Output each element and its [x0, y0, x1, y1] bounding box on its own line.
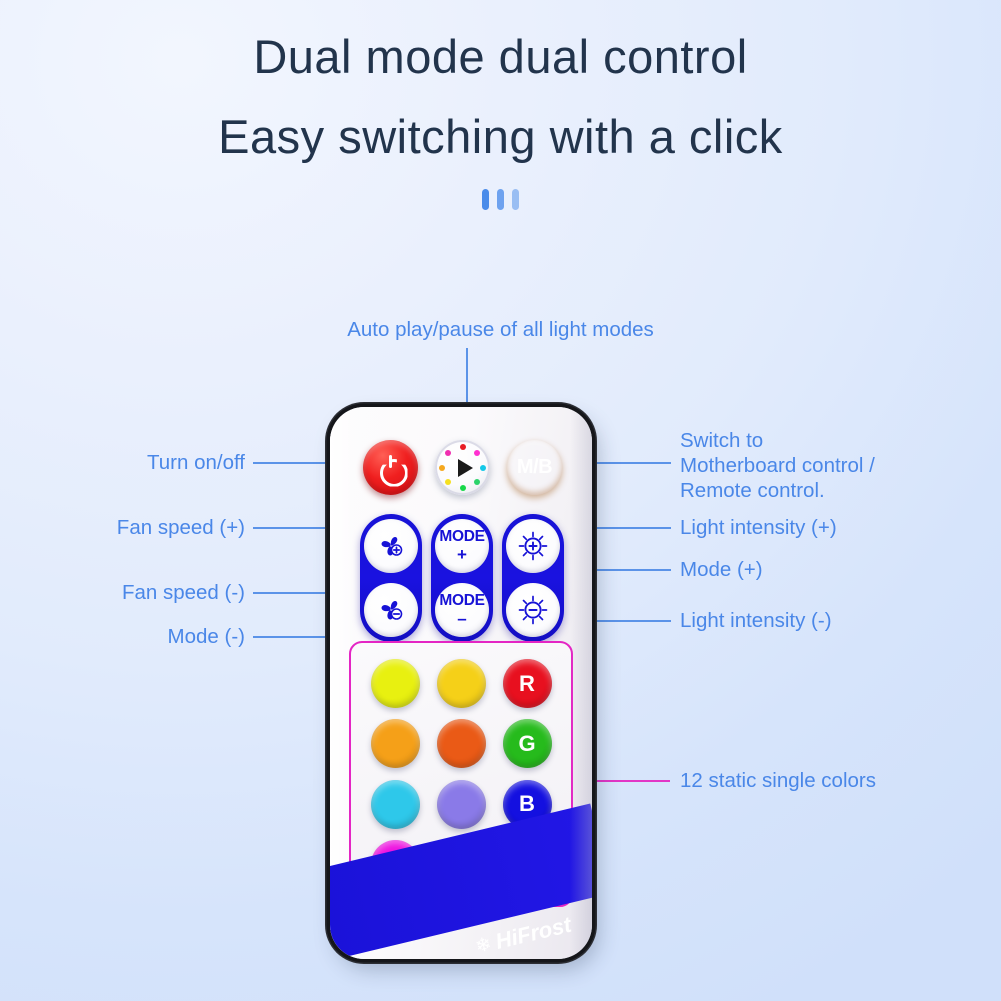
motherboard-remote-button[interactable]: M/B [507, 440, 562, 495]
light-intensity-down-button[interactable] [506, 583, 560, 637]
play-ring-dot [474, 450, 480, 456]
callout-light-down: Light intensity (-) [680, 608, 980, 633]
play-ring-dot [474, 479, 480, 485]
dot-1 [482, 189, 489, 210]
play-ring-dot [439, 465, 445, 471]
color-dark-orange[interactable] [437, 719, 486, 768]
fan-speed-down-button[interactable] [364, 583, 418, 637]
snowflake-icon: ❄ [473, 932, 494, 958]
sun-plus-icon [516, 529, 550, 563]
color-yellow-green[interactable] [371, 659, 420, 708]
callout-motherboard: Switch to Motherboard control / Remote c… [680, 428, 980, 503]
color-red-label: R [519, 671, 535, 697]
callout-static-colors: 12 static single colors [680, 768, 990, 793]
callout-auto-play: Auto play/pause of all light modes [0, 317, 1001, 342]
callout-power: Turn on/off [40, 450, 245, 475]
mode-up-sign: + [457, 546, 467, 563]
light-intensity-up-button[interactable] [506, 519, 560, 573]
mode-capsule: MODE + MODE – [431, 514, 493, 642]
top-button-row: M/B [330, 440, 592, 502]
dot-2 [497, 189, 504, 210]
callout-fan-up: Fan speed (+) [20, 515, 245, 540]
headline-line-2: Easy switching with a click [0, 113, 1001, 160]
power-icon [378, 455, 404, 481]
fan-plus-icon [375, 530, 407, 562]
play-pause-button[interactable] [435, 440, 490, 495]
fan-minus-icon [375, 594, 407, 626]
callout-mode-down: Mode (-) [45, 624, 245, 649]
dot-3 [512, 189, 519, 210]
color-cyan[interactable] [371, 780, 420, 829]
callout-mode-up: Mode (+) [680, 557, 980, 582]
fan-speed-up-button[interactable] [364, 519, 418, 573]
play-ring-dot [445, 479, 451, 485]
play-ring-dot [480, 465, 486, 471]
play-ring-dot [445, 450, 451, 456]
play-ring-dot [460, 444, 466, 450]
callout-light-up: Light intensity (+) [680, 515, 980, 540]
color-green[interactable]: G [503, 719, 552, 768]
mode-up-button[interactable]: MODE + [435, 519, 489, 573]
mode-down-label: MODE [439, 593, 484, 609]
infographic-canvas: Dual mode dual control Easy switching wi… [0, 0, 1001, 1001]
mode-up-label: MODE [439, 529, 484, 545]
mb-label: M/B [517, 456, 552, 479]
power-button[interactable] [363, 440, 418, 495]
fan-capsule [360, 514, 422, 642]
color-green-label: G [518, 731, 535, 757]
headline-line-1: Dual mode dual control [0, 33, 1001, 80]
connector-static-colors [592, 780, 670, 782]
color-orange[interactable] [371, 719, 420, 768]
color-blue-label: B [519, 791, 535, 817]
brightness-capsule [502, 514, 564, 642]
play-icon [458, 459, 473, 477]
control-capsules: MODE + MODE – [330, 514, 592, 642]
color-yellow[interactable] [437, 659, 486, 708]
remote-control-device: M/B [330, 407, 592, 959]
decorative-dots [0, 189, 1001, 210]
color-red[interactable]: R [503, 659, 552, 708]
color-purple[interactable] [437, 780, 486, 829]
callout-fan-down: Fan speed (-) [20, 580, 245, 605]
sun-minus-icon [516, 593, 550, 627]
mode-down-button[interactable]: MODE – [435, 583, 489, 637]
mode-down-sign: – [457, 610, 466, 627]
play-ring-dot [460, 485, 466, 491]
